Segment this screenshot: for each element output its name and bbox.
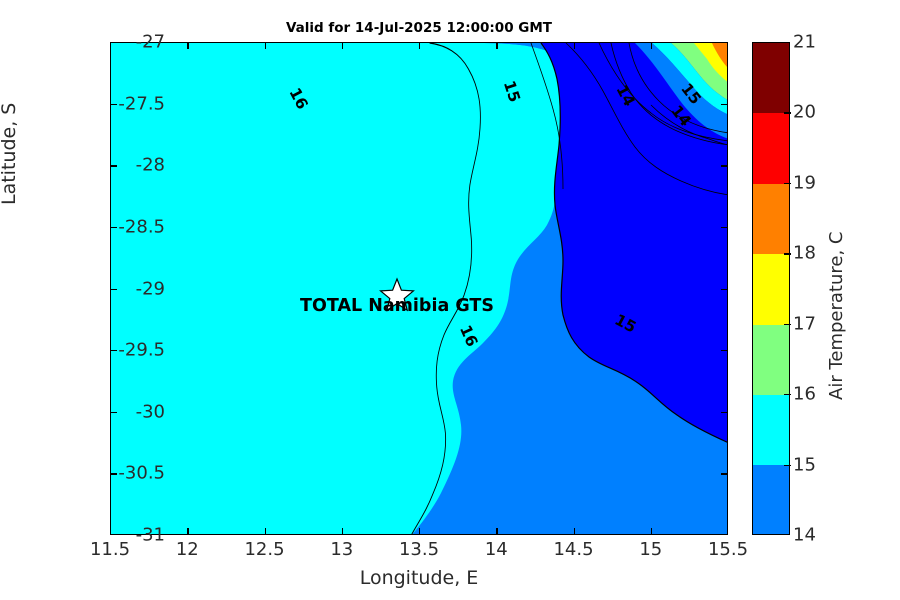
station-label: TOTAL Namibia GTS xyxy=(300,296,494,316)
colorbar-axis-label: Air Temperature, C xyxy=(826,232,847,400)
colorbar-band-17-18 xyxy=(753,254,789,324)
colorbar-band-14-15 xyxy=(753,465,789,535)
contour-field-svg: 16 16 15 15 14 15 14 TOTAL Namibia GTS xyxy=(111,43,728,535)
y-axis-label: Latitude, S xyxy=(0,103,20,205)
colorbar[interactable] xyxy=(752,42,790,535)
colorbar-band-15-16 xyxy=(753,395,789,465)
chart-title: Valid for 14-Jul-2025 12:00:00 GMT xyxy=(110,20,728,36)
colorbar-band-16-17 xyxy=(753,325,789,395)
colorbar-band-18-19 xyxy=(753,184,789,254)
x-axis-label: Longitude, E xyxy=(110,567,728,589)
colorbar-band-20-21 xyxy=(753,43,789,113)
air-temperature-contour-figure: Valid for 14-Jul-2025 12:00:00 GMT 16 xyxy=(0,0,900,600)
colorbar-band-19-20 xyxy=(753,113,789,183)
contour-plot-area: 16 16 15 15 14 15 14 TOTAL Namibia GTS xyxy=(110,42,728,535)
